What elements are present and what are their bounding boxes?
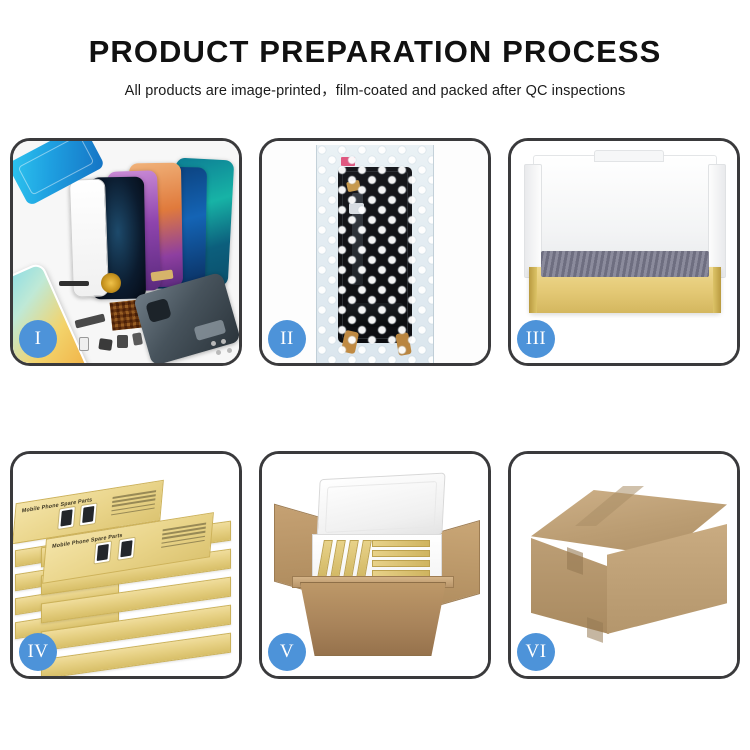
step-badge-2: II (268, 320, 306, 358)
process-step-1[interactable]: I (10, 138, 242, 366)
box-print-lines-1 (111, 490, 157, 522)
screws-group (211, 339, 235, 359)
kraft-box-base (529, 267, 721, 313)
step-badge-4: IV (19, 633, 57, 671)
carton-body (300, 582, 446, 656)
process-step-6[interactable]: VI (508, 451, 740, 679)
product-preparation-infographic: PRODUCT PREPARATION PROCESS All products… (0, 0, 750, 750)
step-badge-5: V (268, 633, 306, 671)
foam-box-lid (316, 473, 445, 542)
part-small-4 (132, 332, 143, 345)
step-badge-3: III (517, 320, 555, 358)
page-title: PRODUCT PREPARATION PROCESS (0, 34, 750, 70)
process-step-4[interactable]: Mobile Phone Spare Parts Mobile Phone Sp… (10, 451, 242, 679)
step-badge-6: VI (517, 633, 555, 671)
box-stack: Mobile Phone Spare Parts Mobile Phone Sp… (15, 472, 241, 662)
part-small-2 (98, 338, 112, 351)
process-step-5[interactable]: V (259, 451, 491, 679)
part-connector-bar (59, 281, 89, 286)
bubble-wrap-bag (316, 145, 434, 363)
foam-padding (541, 251, 709, 277)
box-print-label-2: Mobile Phone Spare Parts (52, 533, 123, 550)
part-small-3 (117, 335, 128, 348)
part-small-1 (79, 337, 89, 351)
box-print-lines-2 (161, 522, 207, 554)
process-step-2[interactable]: II (259, 138, 491, 366)
process-step-3[interactable]: III (508, 138, 740, 366)
process-step-grid: I II (10, 138, 740, 679)
header: PRODUCT PREPARATION PROCESS All products… (0, 0, 750, 100)
page-subtitle: All products are image-printed，film-coat… (0, 79, 750, 100)
step-badge-1: I (19, 320, 57, 358)
bubble-texture (317, 145, 433, 363)
